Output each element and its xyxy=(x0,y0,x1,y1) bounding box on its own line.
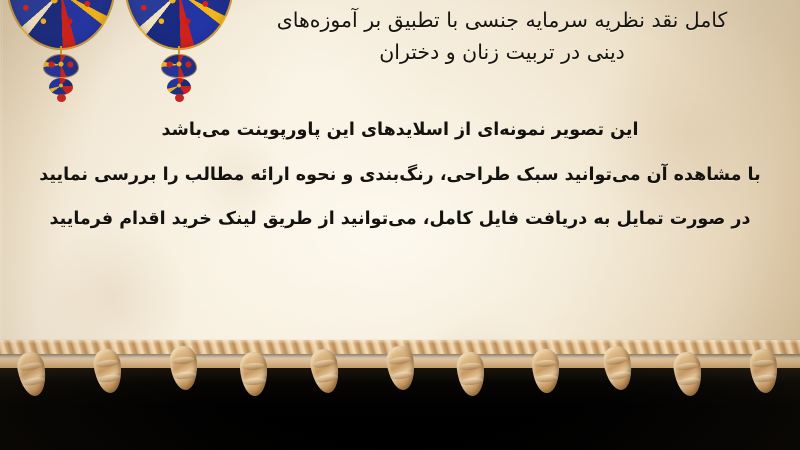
slide-title-line-2: دینی در تربیت زنان و دختران xyxy=(379,40,625,64)
slide-canvas: کامل نقد نظریه سرمایه جنسی با تطبیق بر آ… xyxy=(0,0,800,450)
slide-body-line-2: با مشاهده آن می‌توانید سبک طراحی، رنگ‌بن… xyxy=(0,153,800,198)
slide-body-line-1: این تصویر نمونه‌ای از اسلایدهای این پاور… xyxy=(0,108,800,153)
slide-title-line-1: کامل نقد نظریه سرمایه جنسی با تطبیق بر آ… xyxy=(277,8,728,32)
slide-body: این تصویر نمونه‌ای از اسلایدهای این پاور… xyxy=(0,108,800,242)
bottom-black-band xyxy=(0,368,800,450)
carpet-selvedge-edge xyxy=(0,346,800,368)
slide-body-line-3: در صورت تمایل به دریافت فایل کامل، می‌تو… xyxy=(0,197,800,242)
slide-title: کامل نقد نظریه سرمایه جنسی با تطبیق بر آ… xyxy=(222,4,782,69)
